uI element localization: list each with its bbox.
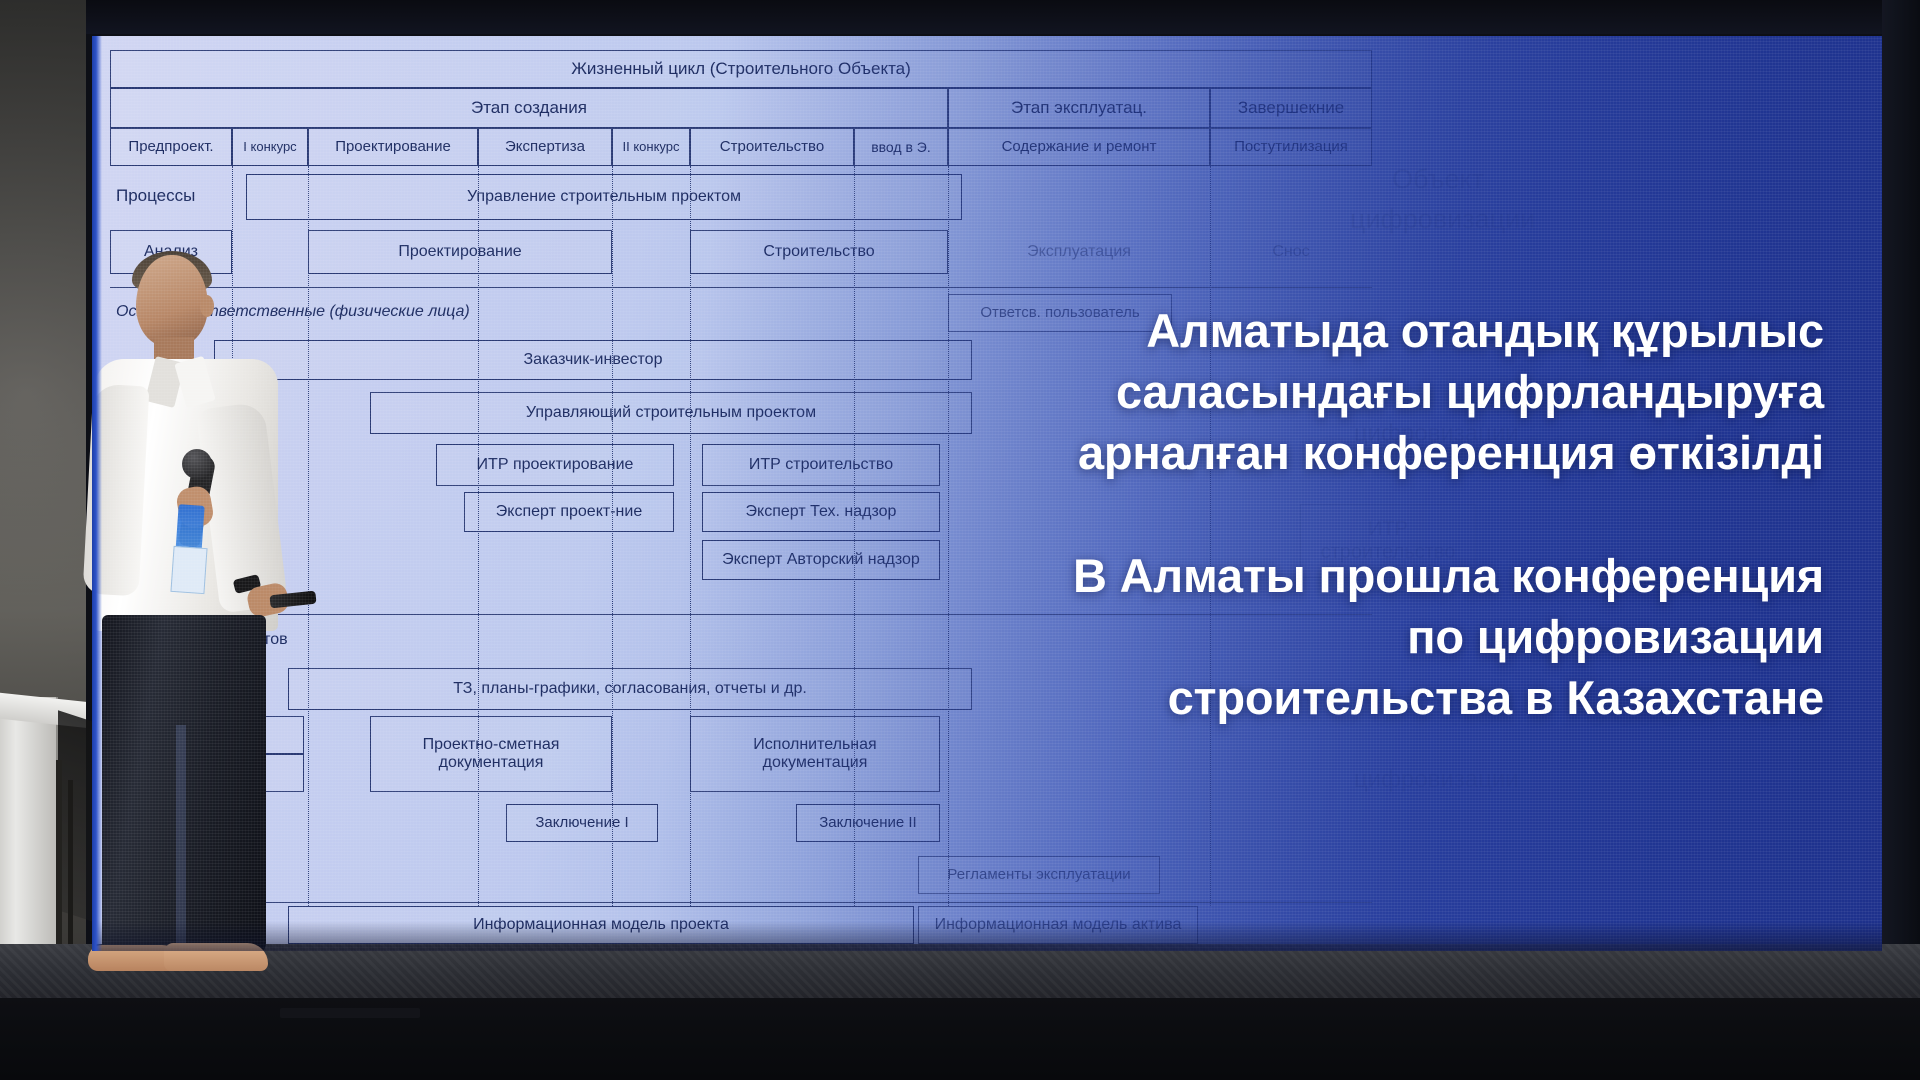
responsible-upravlyayushchiy: Управляющий строительным проектом bbox=[370, 392, 972, 434]
phase-sozdaniya: Этап создания bbox=[110, 88, 948, 128]
ceiling-dark-band bbox=[0, 0, 1920, 34]
stage-stroitelstvo: Строительство bbox=[690, 128, 854, 166]
doc-zaklyuchenie-1: Заключение I bbox=[506, 804, 658, 842]
process-snos: Снос bbox=[1210, 230, 1372, 274]
stage-predproekt: Предпроект. bbox=[110, 128, 232, 166]
stage-vvod-v-e: ввод в Э. bbox=[854, 128, 948, 166]
guide-line-7 bbox=[948, 166, 949, 906]
stage-konkurs-1: I конкурс bbox=[232, 128, 308, 166]
doc-zaklyuchenie-2: Заключение II bbox=[796, 804, 940, 842]
headline-kazakh-line-3: арналған конференция өткізілді bbox=[964, 422, 1824, 483]
phase-ekspluatacii: Этап эксплуатац. bbox=[948, 88, 1210, 128]
stage-konkurs-2: II конкурс bbox=[612, 128, 690, 166]
room-dark-right bbox=[1882, 0, 1920, 960]
headline-russian-line-1: В Алматы прошла конференция bbox=[964, 545, 1824, 606]
process-proektirovanie: Проектирование bbox=[308, 230, 612, 274]
responsible-zakazchik-investor: Заказчик-инвестор bbox=[214, 340, 972, 380]
headline-kazakh-line-1: Алматыда отандық құрылыс bbox=[964, 300, 1824, 361]
screen-left-edge bbox=[92, 36, 102, 951]
responsible-itr-stroitelstvo: ИТР строительство bbox=[702, 444, 940, 486]
guide-line-3 bbox=[478, 166, 479, 906]
process-management-bar: Управление строительным проектом bbox=[246, 174, 962, 220]
phase-zavershenie: Завершекние bbox=[1210, 88, 1372, 128]
divider-processes bbox=[110, 287, 1372, 288]
stage-proektirovanie: Проектирование bbox=[308, 128, 478, 166]
screen-bottom-glow bbox=[92, 921, 1882, 951]
watermark-object: Объект bbox=[1392, 164, 1484, 195]
headline-kazakh: Алматыда отандық құрылыс саласындағы циф… bbox=[964, 300, 1824, 483]
headline-russian-line-3: строительства в Казахстане bbox=[964, 667, 1824, 728]
doc-proektno-smetnaya: Проектно-сметная документация bbox=[370, 716, 612, 792]
responsible-ekspert-avtornadzor: Эксперт Авторский надзор bbox=[702, 540, 940, 580]
diagram-title: Жизненный цикл (Строительного Объекта) bbox=[110, 50, 1372, 88]
guide-line-2 bbox=[308, 166, 309, 906]
responsible-itr-proektirovanie: ИТР проектирование bbox=[436, 444, 674, 486]
process-stroitelstvo: Строительство bbox=[690, 230, 948, 274]
responsible-ekspert-proekt: Эксперт проект-ние bbox=[464, 492, 674, 532]
headline-russian: В Алматы прошла конференция по цифровиза… bbox=[964, 545, 1824, 728]
stage-ekspertiza: Экспертиза bbox=[478, 128, 612, 166]
guide-line-4 bbox=[612, 166, 613, 906]
headline-kazakh-line-2: саласындағы цифрландыруға bbox=[964, 361, 1824, 422]
stage-floor-seam bbox=[280, 1008, 420, 1018]
headline-overlay: Алматыда отандық құрылыс саласындағы циф… bbox=[964, 300, 1824, 729]
process-ekspluataciya: Эксплуатация bbox=[948, 230, 1210, 274]
doc-tz-plany-grafiki: ТЗ, планы-графики, согласования, отчеты … bbox=[288, 668, 972, 710]
speaker-ear bbox=[200, 295, 214, 317]
doc-ispolnitelnaya: Исполнительная документация bbox=[690, 716, 940, 792]
speaker-badge bbox=[170, 546, 207, 594]
speaker-head bbox=[136, 255, 208, 347]
responsible-ekspert-tehnadzor: Эксперт Тех. надзор bbox=[702, 492, 940, 532]
photo-scene: Объект цифровизации ИТР строительство ци… bbox=[0, 0, 1920, 1080]
stage-postutilizaciya: Постутилизация bbox=[1210, 128, 1372, 166]
headline-russian-line-2: по цифровизации bbox=[964, 606, 1824, 667]
stage-soderzhanie-remont: Содержание и ремонт bbox=[948, 128, 1210, 166]
row-label-processes: Процессы bbox=[116, 172, 195, 220]
guide-line-6 bbox=[854, 166, 855, 906]
guide-line-5 bbox=[690, 166, 691, 906]
doc-reglamenty-ekspluatacii: Регламенты эксплуатации bbox=[918, 856, 1160, 894]
divider-documents bbox=[110, 902, 1372, 903]
